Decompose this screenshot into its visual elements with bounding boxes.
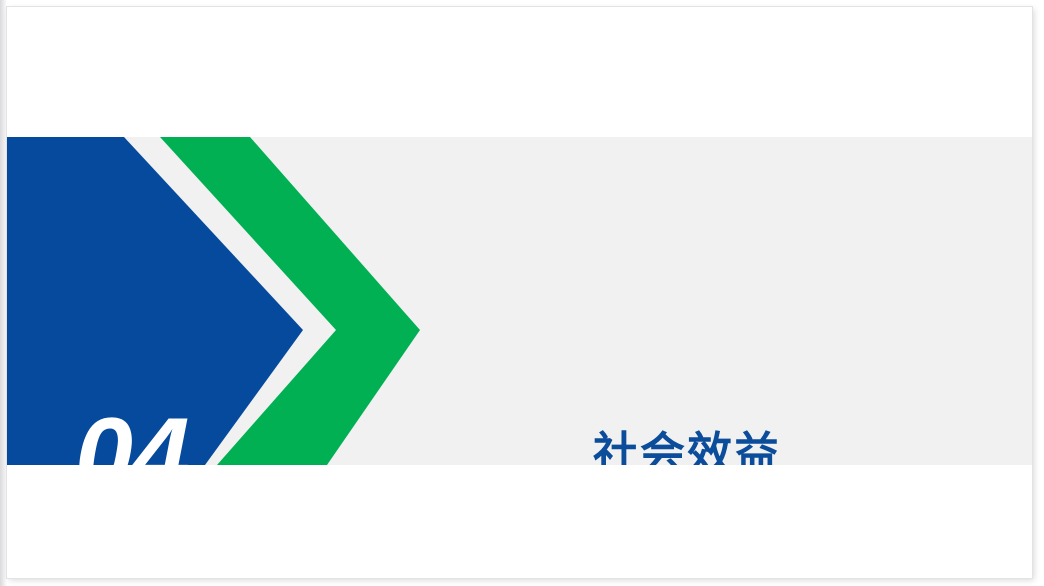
section-banner: 04 社会效益 [7,137,1032,465]
section-number: 04 [75,395,275,465]
presentation-slide: 04 社会效益 [7,7,1032,578]
slide-viewport: 04 社会效益 [0,0,1044,586]
section-title: 社会效益 [593,424,781,465]
